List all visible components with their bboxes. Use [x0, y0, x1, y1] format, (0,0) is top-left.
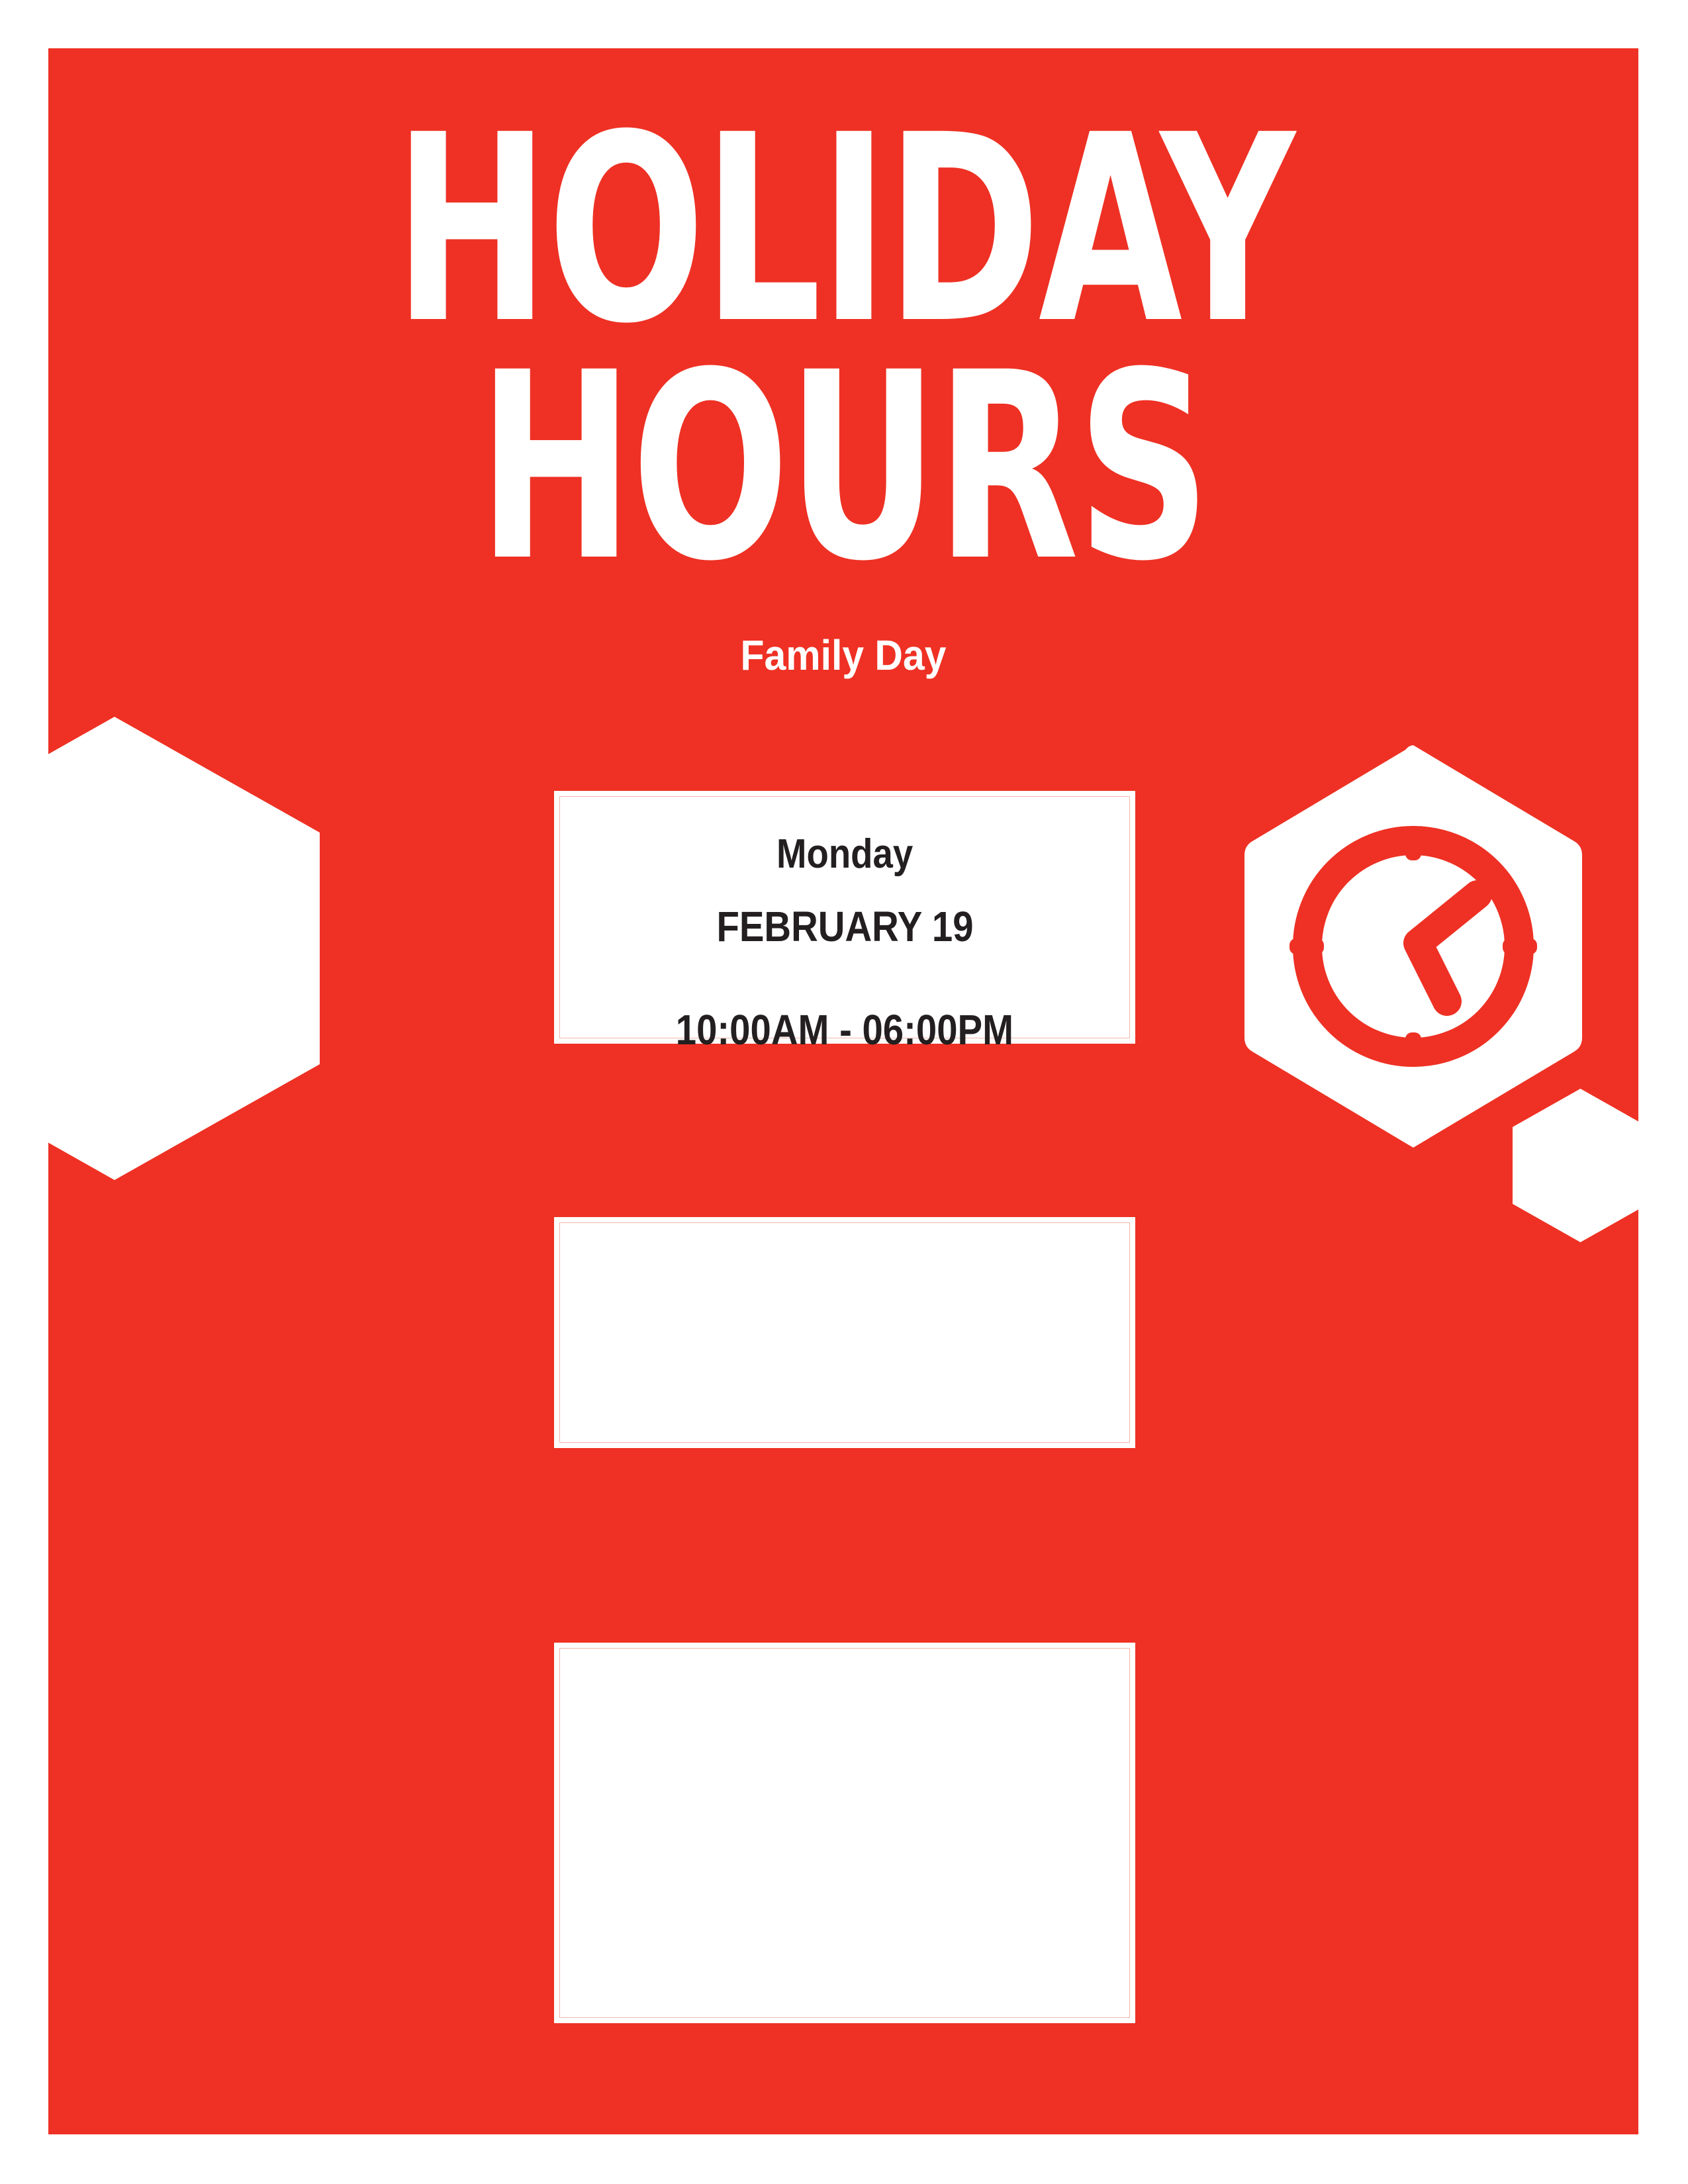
poster-red-panel: HOLIDAY HOURS Family Day Monday FEBRUARY…	[48, 48, 1638, 2134]
page-subtitle: Family Day	[112, 631, 1575, 680]
schedule-card	[554, 1643, 1135, 2023]
clock-hexagon-icon	[1244, 741, 1582, 1152]
schedule-card: Monday FEBRUARY 19 10:00AM - 06:00PM	[554, 791, 1135, 1044]
page-title-line-2: HOURS	[207, 349, 1479, 586]
schedule-card	[554, 1217, 1135, 1448]
page-title-line-1: HOLIDAY	[207, 111, 1479, 349]
schedule-card-border: Monday FEBRUARY 19 10:00AM - 06:00PM	[559, 796, 1130, 1038]
schedule-card-border	[559, 1648, 1130, 2018]
hexagon-decoration-icon	[48, 717, 320, 1180]
schedule-card-border	[559, 1222, 1130, 1443]
holiday-hours-poster: HOLIDAY HOURS Family Day Monday FEBRUARY…	[0, 0, 1688, 2184]
schedule-date-label: FEBRUARY 19	[716, 905, 973, 948]
page-title: HOLIDAY HOURS	[48, 111, 1638, 586]
schedule-day-label: Monday	[776, 834, 913, 875]
schedule-hours-label: 10:00AM - 06:00PM	[676, 1009, 1013, 1051]
